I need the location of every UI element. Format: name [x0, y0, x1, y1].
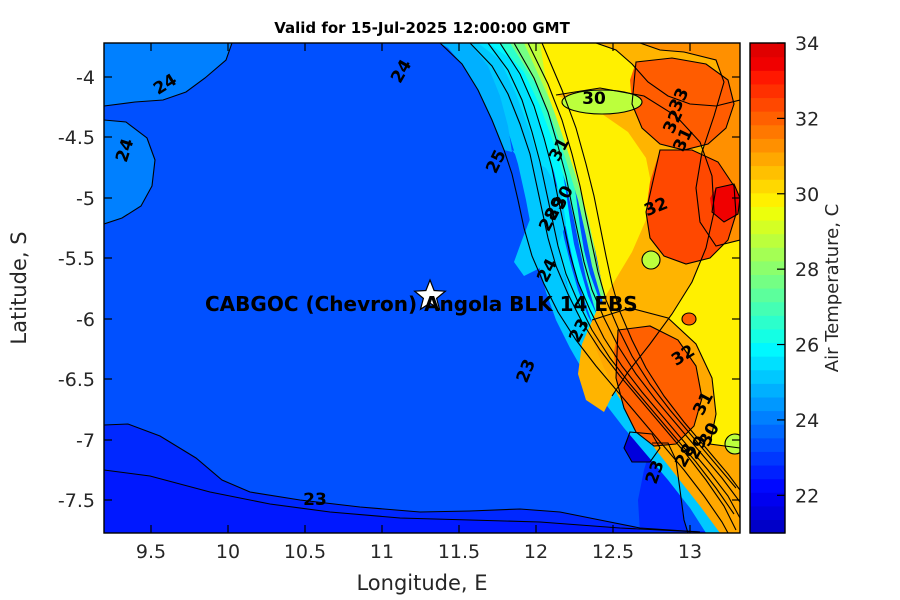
- colorbar-band: [750, 84, 785, 98]
- colorbar-title: Air Temperature, C: [822, 204, 843, 372]
- colorbar-band: [750, 234, 785, 248]
- colorbar-band: [750, 57, 785, 71]
- colorbar-band: [750, 383, 785, 397]
- colorbar-band: [750, 424, 785, 438]
- x-tick-label: 10: [216, 541, 240, 563]
- x-tick-label: 12: [524, 541, 548, 563]
- colorbar-band: [750, 465, 785, 479]
- colorbar-band: [750, 261, 785, 275]
- colorbar-band: [750, 193, 785, 207]
- y-tick-label: -7: [76, 430, 95, 452]
- colorbar-tick-label: 34: [795, 33, 819, 55]
- plot-area: 24 24 24 30 33 32 31 31 30 29 28 32 25 2…: [7, 43, 745, 595]
- colorbar-band: [750, 138, 785, 152]
- colorbar-band: [750, 247, 785, 261]
- x-tick-label: 13: [678, 541, 702, 563]
- y-tick-label: -4.5: [58, 127, 95, 149]
- colorbar-band: [750, 70, 785, 84]
- colorbar-band: [750, 315, 785, 329]
- y-tick-label: -7.5: [58, 490, 95, 512]
- colorbar-band: [750, 220, 785, 234]
- colorbar-tick-label: 26: [795, 335, 819, 357]
- colorbar-band: [750, 411, 785, 425]
- colorbar-band: [750, 152, 785, 166]
- colorbar-tick-label: 28: [795, 259, 819, 281]
- y-tick-label: -6: [76, 309, 95, 331]
- y-tick-label: -5: [76, 188, 95, 210]
- colorbar-band: [750, 302, 785, 316]
- colorbar-band: [750, 125, 785, 139]
- y-tick-label: -5.5: [58, 248, 95, 270]
- colorbar-band: [750, 479, 785, 493]
- colorbar-band: [750, 438, 785, 452]
- colorbar-band: [750, 356, 785, 370]
- colorbar-tick-label: 30: [795, 184, 819, 206]
- colorbar-band: [750, 166, 785, 180]
- x-tick-label: 11: [370, 541, 394, 563]
- contour-label: 30: [582, 89, 606, 109]
- colorbar-band: [750, 492, 785, 506]
- colorbar-band: [750, 506, 785, 520]
- colorbar-tick-label: 24: [795, 410, 819, 432]
- x-tick-label: 11.5: [438, 541, 480, 563]
- colorbar-band: [750, 274, 785, 288]
- colorbar-band: [750, 370, 785, 384]
- station-label: CABGOC (Chevron) Angola BLK 14 EBS: [205, 292, 638, 316]
- colorbar-swatches: [750, 43, 785, 534]
- page-title: Valid for 15-Jul-2025 12:00:00 GMT: [274, 19, 570, 37]
- contour-map-figure: Valid for 15-Jul-2025 12:00:00 GMT: [0, 0, 900, 600]
- colorbar-band: [750, 179, 785, 193]
- x-tick-label: 10.5: [284, 541, 326, 563]
- colorbar-band: [750, 288, 785, 302]
- contour-label: 23: [303, 490, 327, 510]
- x-axis-label: Longitude, E: [356, 571, 487, 595]
- colorbar-band: [750, 206, 785, 220]
- x-tick-label: 9.5: [136, 541, 166, 563]
- y-tick-label: -6.5: [58, 369, 95, 391]
- x-tick-label: 12.5: [592, 541, 634, 563]
- colorbar-band: [750, 397, 785, 411]
- colorbar-tick-label: 22: [795, 485, 819, 507]
- colorbar-band: [750, 451, 785, 465]
- colorbar-tick-label: 32: [795, 108, 819, 130]
- y-tick-label: -4: [76, 67, 95, 89]
- colorbar-band: [750, 97, 785, 111]
- colorbar-band: [750, 43, 785, 57]
- y-axis-label: Latitude, S: [7, 231, 31, 344]
- colorbar-band: [750, 519, 785, 533]
- colorbar-band: [750, 329, 785, 343]
